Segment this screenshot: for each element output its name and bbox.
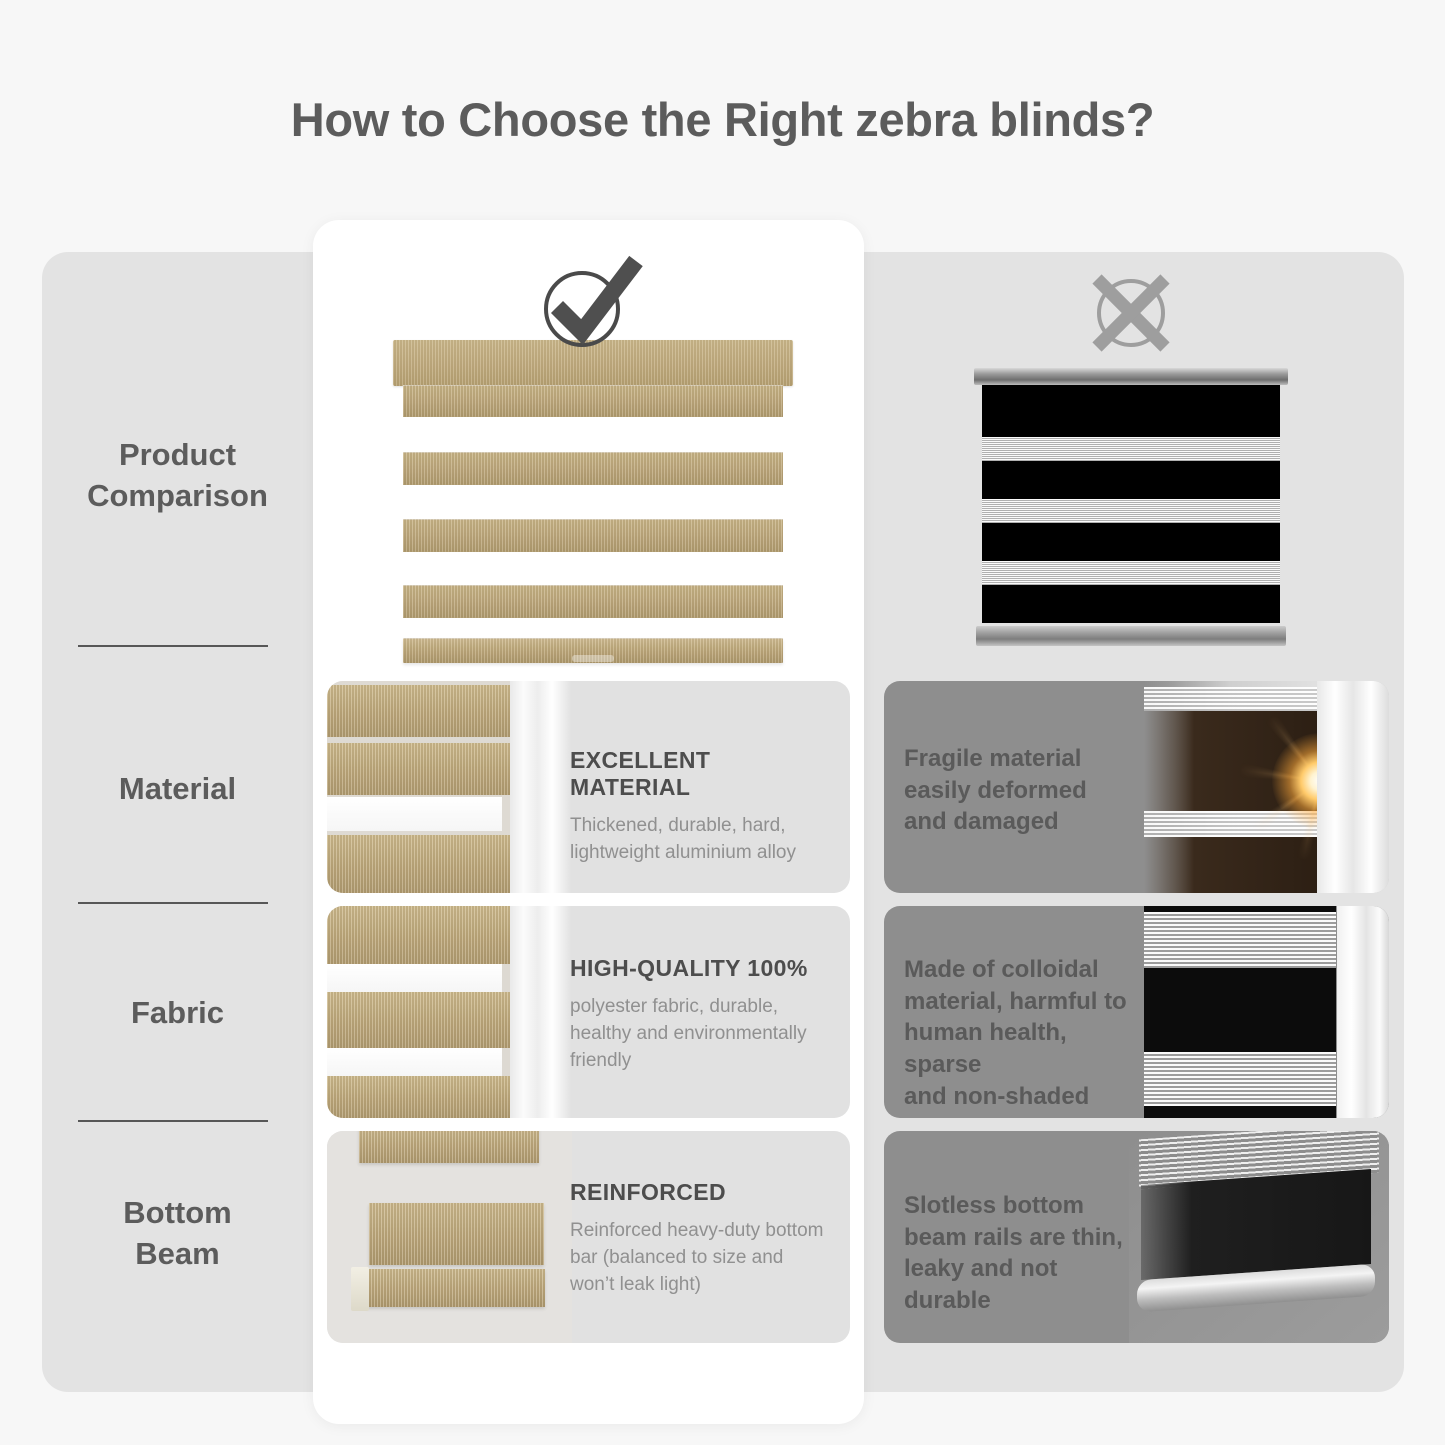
bottom-beam-pro-card: REINFORCED Reinforced heavy-duty bottom … [327, 1131, 850, 1343]
bottom-beam-pro-heading: REINFORCED [570, 1179, 834, 1206]
fabric-pro-card: HIGH-QUALITY 100% polyester fabric, dura… [327, 906, 850, 1118]
row-label-column: Product Comparison Material Fabric Botto… [42, 252, 313, 1392]
window-frame [510, 906, 572, 1118]
tan-blind-band [403, 385, 783, 417]
black-blind-sheer-band [982, 561, 1280, 585]
tan-blind-band [403, 585, 783, 618]
window-frame [510, 681, 572, 893]
fabric-con-card: Made of colloidal material, harmful to h… [884, 906, 1389, 1118]
bottom-beam-pro-text: REINFORCED Reinforced heavy-duty bottom … [570, 1179, 834, 1299]
fabric-con-text: Made of colloidal material, harmful to h… [904, 954, 1149, 1112]
cross-circle-icon [1081, 268, 1181, 356]
black-blind-bottom-rail [976, 626, 1286, 646]
tan-blind-band [403, 519, 783, 552]
fabric-pro-heading: HIGH-QUALITY 100% [570, 955, 834, 982]
black-blind-fabric [982, 385, 1280, 623]
row-label-material: Material [42, 768, 313, 809]
row-label-bottom-beam: Bottom Beam [42, 1192, 313, 1274]
tan-blind-window-frame-photo [327, 681, 572, 893]
material-pro-heading: EXCELLENT MATERIAL [570, 747, 834, 801]
row-label-product-comparison: Product Comparison [42, 434, 313, 516]
black-blind-sheer-band [982, 499, 1280, 523]
row-divider-2 [78, 902, 268, 904]
row-divider-3 [78, 1120, 268, 1122]
infographic-canvas: How to Choose the Right zebra blinds? Pr… [0, 0, 1445, 1445]
tan-blind-fabric-closeup-photo [327, 906, 572, 1118]
check-circle-icon [535, 253, 645, 351]
fabric-pro-text: HIGH-QUALITY 100% polyester fabric, dura… [570, 955, 834, 1075]
black-zebra-blind-photo [974, 368, 1288, 651]
material-pro-text: EXCELLENT MATERIAL Thickened, durable, h… [570, 747, 834, 867]
material-pro-card: EXCELLENT MATERIAL Thickened, durable, h… [327, 681, 850, 893]
page-title: How to Choose the Right zebra blinds? [0, 92, 1445, 147]
black-blind-headrail [974, 368, 1288, 385]
material-con-card: Fragile material easily deformed and dam… [884, 681, 1389, 893]
tan-blind-bottom-bar [403, 638, 783, 663]
bottom-beam-pro-body: Reinforced heavy-duty bottom bar (balanc… [570, 1218, 834, 1299]
black-blind-sparse-fabric-photo [1144, 906, 1389, 1118]
tan-zebra-blind-photo [393, 340, 793, 663]
bottom-beam-con-text: Slotless bottom beam rails are thin, lea… [904, 1190, 1149, 1317]
black-blind-sheer-band [982, 437, 1280, 461]
black-fabric-panel [1141, 1169, 1371, 1280]
row-divider-1 [78, 645, 268, 647]
sunlight-leaking-window-photo [1144, 681, 1389, 893]
row-label-fabric: Fabric [42, 992, 313, 1033]
window-frame [1337, 906, 1389, 1118]
fabric-pro-body: polyester fabric, durable, healthy and e… [570, 994, 834, 1075]
material-con-text: Fragile material easily deformed and dam… [904, 743, 1149, 838]
tan-blind-band [403, 452, 783, 485]
material-pro-body: Thickened, durable, hard, lightweight al… [570, 813, 834, 867]
bottom-bar-end-cap [351, 1267, 369, 1311]
bottom-beam-con-card: Slotless bottom beam rails are thin, lea… [884, 1131, 1389, 1343]
reinforced-bottom-bar-photo [327, 1131, 572, 1343]
window-frame [1317, 681, 1389, 893]
thin-bottom-rail-photo [1129, 1131, 1389, 1343]
